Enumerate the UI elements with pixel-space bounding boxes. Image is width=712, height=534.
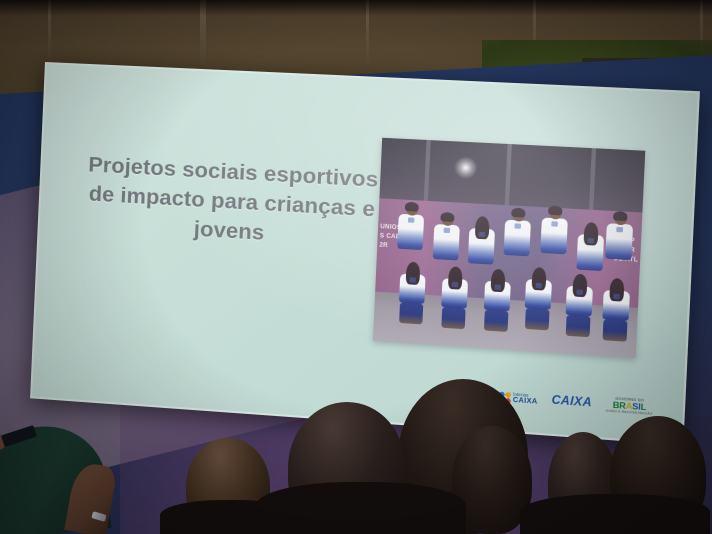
athlete-figure — [539, 206, 569, 254]
athlete-figure — [432, 213, 462, 261]
lens-flare — [453, 156, 477, 180]
audience-shoulder — [160, 500, 300, 534]
ceiling-shadow — [0, 0, 712, 16]
athlete-figure — [502, 208, 532, 256]
slide-photo: UNIOS S CAD 2R CAMP INTER DE ATL — [373, 138, 645, 358]
athlete-figure — [523, 268, 554, 331]
screenshot-stage: Projetos sociais esportivos de impacto p… — [0, 0, 712, 534]
athlete-figure — [467, 217, 497, 265]
audience-shoulder — [520, 494, 710, 534]
slide-headline: Projetos sociais esportivos de impacto p… — [81, 150, 383, 254]
athlete-figure — [564, 274, 595, 337]
attendee-with-phone — [0, 414, 144, 534]
athlete-figure — [482, 269, 513, 332]
athlete-figure — [575, 223, 605, 272]
athlete-figure — [396, 202, 426, 250]
audience-foreground — [0, 354, 712, 534]
athlete-figure — [604, 212, 635, 261]
athlete-figure — [397, 262, 427, 324]
athlete-figure — [439, 267, 469, 330]
athlete-figure — [600, 278, 631, 341]
